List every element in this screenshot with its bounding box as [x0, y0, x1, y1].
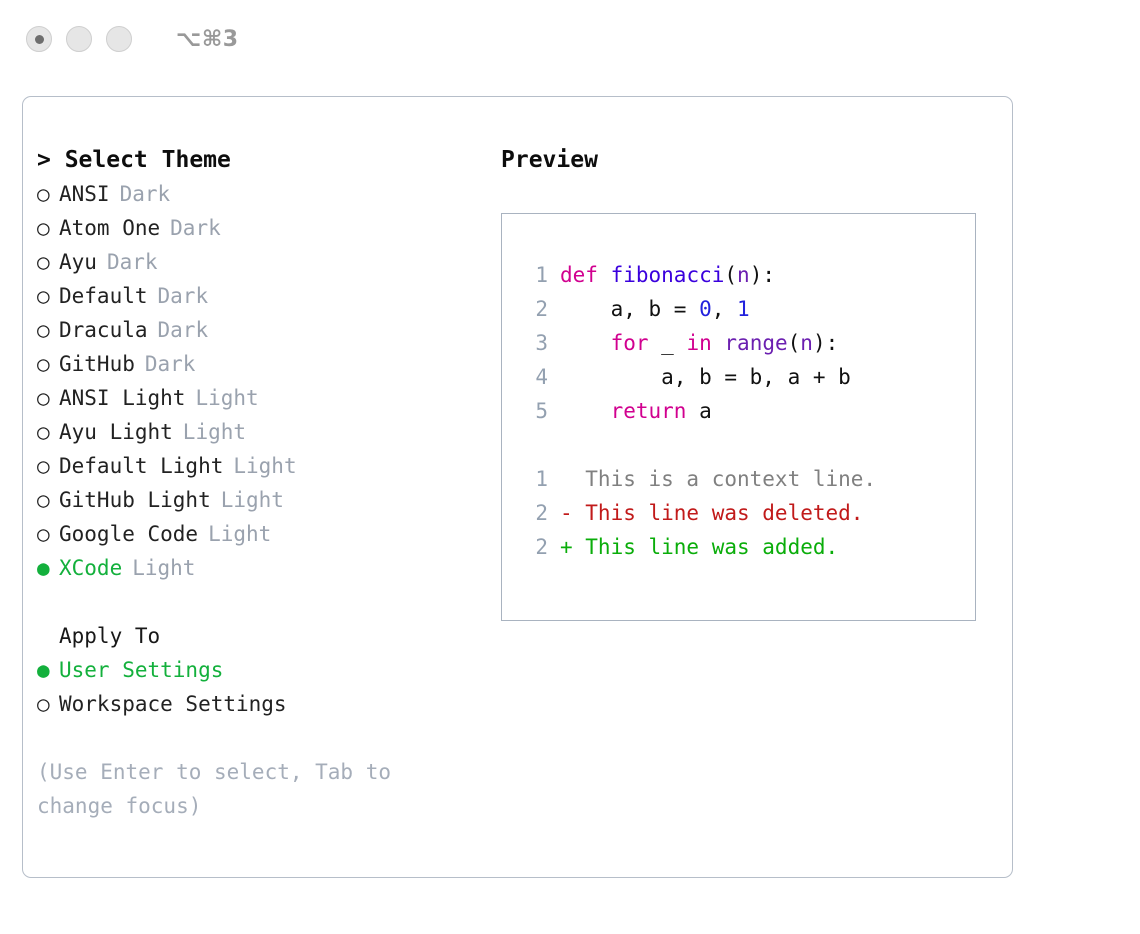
- code-token: a, b =: [560, 297, 699, 321]
- theme-option-label: Ayu Light: [59, 415, 173, 449]
- code-line-content: return a: [560, 394, 712, 428]
- code-token: [712, 331, 725, 355]
- radio-empty-icon: ○: [37, 279, 59, 313]
- radio-empty-icon: ○: [37, 177, 59, 211]
- radio-empty-icon: ○: [37, 517, 59, 551]
- radio-empty-icon: ○: [37, 381, 59, 415]
- theme-option-kind: Dark: [107, 245, 158, 279]
- traffic-dot-3[interactable]: [106, 26, 132, 52]
- code-token: 0: [699, 297, 712, 321]
- theme-option-label: Default: [59, 279, 148, 313]
- code-token: (: [724, 263, 737, 287]
- code-token: a: [686, 399, 711, 423]
- code-token: fibonacci: [611, 263, 725, 287]
- apply-to-option[interactable]: ●User Settings: [37, 653, 507, 687]
- code-token: _: [649, 331, 687, 355]
- diff-line-content: This is a context line.: [560, 462, 876, 496]
- theme-list-pane: > Select Theme ○ANSIDark○Atom OneDark○Ay…: [37, 143, 507, 823]
- title-bar: ⌥⌘3: [0, 0, 1140, 78]
- preview-title: Preview: [501, 143, 1001, 177]
- theme-option[interactable]: ○DraculaDark: [37, 313, 507, 347]
- code-line: 1def fibonacci(n):: [522, 258, 975, 292]
- radio-empty-icon: ○: [37, 415, 59, 449]
- radio-empty-icon: ○: [37, 449, 59, 483]
- radio-selected-icon: ●: [37, 653, 59, 687]
- theme-option-kind: Light: [132, 551, 195, 585]
- code-token: ):: [750, 263, 775, 287]
- code-line: 4 a, b = b, a + b: [522, 360, 975, 394]
- radio-empty-icon: ○: [37, 245, 59, 279]
- traffic-dot-2[interactable]: [66, 26, 92, 52]
- keyboard-shortcut-label: ⌥⌘3: [176, 27, 239, 52]
- diff-sample: 1 This is a context line.2- This line wa…: [522, 462, 975, 564]
- card-columns: > Select Theme ○ANSIDark○Atom OneDark○Ay…: [23, 97, 1012, 877]
- theme-option-label: ANSI: [59, 177, 110, 211]
- theme-option-kind: Light: [221, 483, 284, 517]
- theme-option-kind: Light: [233, 449, 296, 483]
- diff-line: 2- This line was deleted.: [522, 496, 975, 530]
- code-line-content: for _ in range(n):: [560, 326, 838, 360]
- traffic-dot-1[interactable]: [26, 26, 52, 52]
- radio-empty-icon: ○: [37, 483, 59, 517]
- code-token: (: [788, 331, 801, 355]
- radio-empty-icon: ○: [37, 347, 59, 381]
- diff-line-content: - This line was deleted.: [560, 496, 863, 530]
- theme-option-label: GitHub Light: [59, 483, 211, 517]
- code-sample: 1def fibonacci(n):2 a, b = 0, 13 for _ i…: [522, 258, 975, 428]
- code-token: [598, 263, 611, 287]
- line-number: 2: [522, 530, 548, 564]
- line-number: 2: [522, 496, 548, 530]
- line-number: 2: [522, 292, 548, 326]
- theme-option-label: Default Light: [59, 449, 223, 483]
- theme-option[interactable]: ○ANSI LightLight: [37, 381, 507, 415]
- theme-option[interactable]: ○ANSIDark: [37, 177, 507, 211]
- theme-option-kind: Light: [208, 517, 271, 551]
- line-number: 1: [522, 462, 548, 496]
- code-token: n: [737, 263, 750, 287]
- theme-option[interactable]: ○DefaultDark: [37, 279, 507, 313]
- code-token: return: [611, 399, 687, 423]
- code-token: [560, 399, 611, 423]
- diff-line: 1 This is a context line.: [522, 462, 975, 496]
- theme-option[interactable]: ○Atom OneDark: [37, 211, 507, 245]
- radio-empty-icon: ○: [37, 313, 59, 347]
- code-line-content: a, b = b, a + b: [560, 360, 851, 394]
- apply-to-option-label: User Settings: [59, 653, 223, 687]
- theme-option-label: XCode: [59, 551, 122, 585]
- code-token: in: [686, 331, 711, 355]
- theme-option-kind: Dark: [158, 279, 209, 313]
- line-number: 5: [522, 394, 548, 428]
- code-token: range: [724, 331, 787, 355]
- theme-option-kind: Dark: [145, 347, 196, 381]
- code-diff-gap: [522, 428, 975, 462]
- theme-option[interactable]: ○AyuDark: [37, 245, 507, 279]
- apply-to-heading: Apply To: [37, 619, 507, 653]
- theme-option-label: GitHub: [59, 347, 135, 381]
- apply-to-list[interactable]: ●User Settings○Workspace Settings: [37, 653, 507, 721]
- select-theme-heading: > Select Theme: [37, 143, 507, 177]
- code-token: a, b = b, a + b: [560, 365, 851, 389]
- code-token: ):: [813, 331, 838, 355]
- code-line: 2 a, b = 0, 1: [522, 292, 975, 326]
- code-token: def: [560, 263, 598, 287]
- list-spacer: [37, 585, 507, 619]
- theme-option-kind: Light: [183, 415, 246, 449]
- theme-option[interactable]: ●XCodeLight: [37, 551, 507, 585]
- theme-option-label: Dracula: [59, 313, 148, 347]
- apply-to-option[interactable]: ○Workspace Settings: [37, 687, 507, 721]
- code-line-content: def fibonacci(n):: [560, 258, 775, 292]
- traffic-dot-1-inner: [35, 35, 44, 44]
- theme-option[interactable]: ○GitHubDark: [37, 347, 507, 381]
- theme-option-kind: Dark: [170, 211, 221, 245]
- code-token: ,: [712, 297, 737, 321]
- code-token: [560, 331, 611, 355]
- code-token: 1: [737, 297, 750, 321]
- theme-option[interactable]: ○Ayu LightLight: [37, 415, 507, 449]
- app-window: ⌥⌘3 > Select Theme ○ANSIDark○Atom OneDar…: [0, 0, 1140, 934]
- theme-option[interactable]: ○Default LightLight: [37, 449, 507, 483]
- line-number: 1: [522, 258, 548, 292]
- apply-to-option-label: Workspace Settings: [59, 687, 287, 721]
- code-token: for: [611, 331, 649, 355]
- diff-line-content: + This line was added.: [560, 530, 838, 564]
- theme-option-kind: Dark: [158, 313, 209, 347]
- theme-picker-card: > Select Theme ○ANSIDark○Atom OneDark○Ay…: [22, 96, 1013, 878]
- radio-empty-icon: ○: [37, 211, 59, 245]
- radio-empty-icon: ○: [37, 687, 59, 721]
- code-line: 5 return a: [522, 394, 975, 428]
- theme-option-kind: Dark: [120, 177, 171, 211]
- theme-option-label: Ayu: [59, 245, 97, 279]
- theme-option-label: Atom One: [59, 211, 160, 245]
- radio-selected-icon: ●: [37, 551, 59, 585]
- diff-line: 2+ This line was added.: [522, 530, 975, 564]
- code-token: n: [800, 331, 813, 355]
- theme-option-kind: Light: [195, 381, 258, 415]
- line-number: 4: [522, 360, 548, 394]
- code-line-content: a, b = 0, 1: [560, 292, 750, 326]
- keyboard-hint-text: (Use Enter to select, Tab to change focu…: [37, 755, 447, 823]
- preview-pane: Preview 1def fibonacci(n):2 a, b = 0, 13…: [501, 143, 1001, 621]
- line-number: 3: [522, 326, 548, 360]
- theme-option-label: Google Code: [59, 517, 198, 551]
- preview-code-box: 1def fibonacci(n):2 a, b = 0, 13 for _ i…: [501, 213, 976, 621]
- theme-list[interactable]: ○ANSIDark○Atom OneDark○AyuDark○DefaultDa…: [37, 177, 507, 585]
- theme-option[interactable]: ○GitHub LightLight: [37, 483, 507, 517]
- code-line: 3 for _ in range(n):: [522, 326, 975, 360]
- theme-option-label: ANSI Light: [59, 381, 185, 415]
- theme-option[interactable]: ○Google CodeLight: [37, 517, 507, 551]
